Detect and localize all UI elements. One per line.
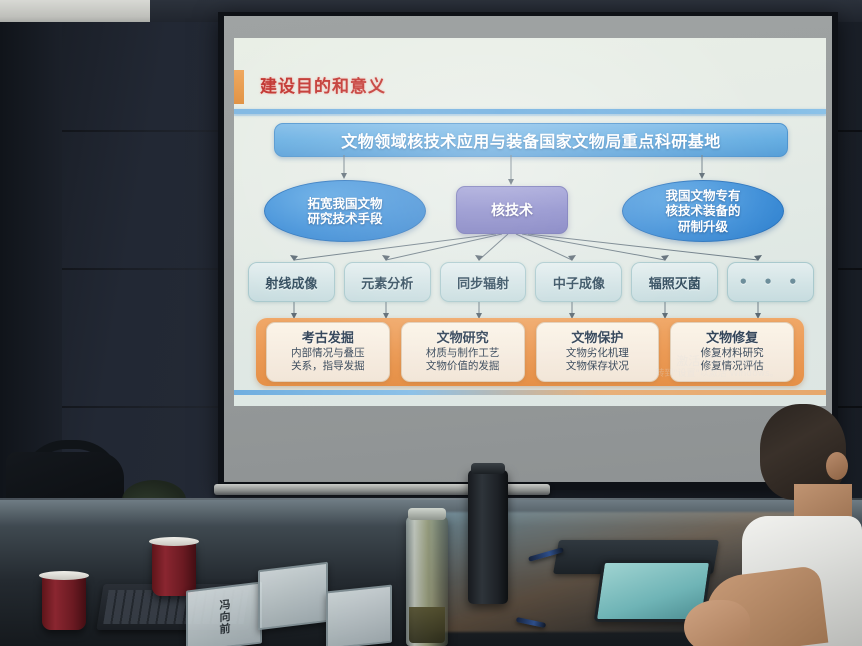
application-card: 考古发掘 内部情况与叠压 关系，指导发掘 [266,322,390,382]
core-technology-label: 核技术 [491,200,533,220]
core-technology-box: 核技术 [456,186,568,234]
technique-label: 同步辐射 [457,273,509,292]
attendee [742,404,862,646]
application-line: 内部情况与叠压 [291,347,365,360]
wall-left-panel [0,22,62,502]
technique-label: 中子成像 [553,273,605,292]
application-line: 关系，指导发掘 [291,360,365,373]
application-line: 文物保存状况 [566,360,629,373]
name-placard [258,562,328,631]
application-heading: 文物修复 [706,331,758,347]
application-line: 修复情况评估 [701,360,764,373]
black-thermos [468,470,508,604]
technique-row: 射线成像 元素分析 同步辐射 中子成像 辐照灭菌 • • • [248,262,814,302]
goal-right-ellipse: 我国文物专有核技术装备的研制升级 [622,180,784,242]
technique-box: 中子成像 [535,262,622,302]
application-card: 文物保护 文物劣化机理 文物保存状况 [536,322,660,382]
technique-box: 元素分析 [344,262,431,302]
paper-cup [42,576,86,630]
application-row: 考古发掘 内部情况与叠压 关系，指导发掘 文物研究 材质与制作工艺 文物价值的发… [256,322,804,382]
thermos-cap [471,463,505,474]
name-placard: 冯向前 [186,581,262,646]
name-placard-label: 冯向前 [216,598,232,636]
tea-leaves [409,607,445,643]
goal-right-label: 我国文物专有核技术装备的研制升级 [665,188,740,234]
technique-ellipsis-label: • • • [738,273,802,291]
technique-label: 射线成像 [265,273,317,292]
glass-tea-bottle [406,516,448,646]
attendee-ear [826,452,848,480]
attendee-hand [684,600,750,646]
conference-room-scene: 建设目的和意义 文物领域核技术应用与装备国家文物局重点科研基地 [0,0,862,646]
slide-bottom-divider [234,390,826,395]
application-line: 文物劣化机理 [566,347,629,360]
application-heading: 文物保护 [571,331,623,347]
technique-box-ellipsis: • • • [727,262,814,302]
paper-cup [152,542,196,596]
technique-label: 辐照灭菌 [649,273,701,292]
application-card: 文物研究 材质与制作工艺 文物价值的发掘 [401,322,525,382]
goal-left-label: 拓宽我国文物研究技术手段 [307,196,382,227]
goal-left-ellipse: 拓宽我国文物研究技术手段 [264,180,426,242]
name-placard [326,585,392,646]
technique-box: 同步辐射 [440,262,527,302]
technique-box: 射线成像 [248,262,335,302]
application-card: 文物修复 修复材料研究 修复情况评估 [670,322,794,382]
application-line: 修复材料研究 [701,347,764,360]
application-line: 材质与制作工艺 [426,347,500,360]
application-line: 文物价值的发掘 [426,360,500,373]
projected-slide: 建设目的和意义 文物领域核技术应用与装备国家文物局重点科研基地 [234,38,826,406]
application-heading: 文物研究 [437,331,489,347]
technique-box: 辐照灭菌 [631,262,718,302]
bottle-lid [408,508,446,520]
application-heading: 考古发掘 [302,331,354,347]
technique-label: 元素分析 [361,273,413,292]
